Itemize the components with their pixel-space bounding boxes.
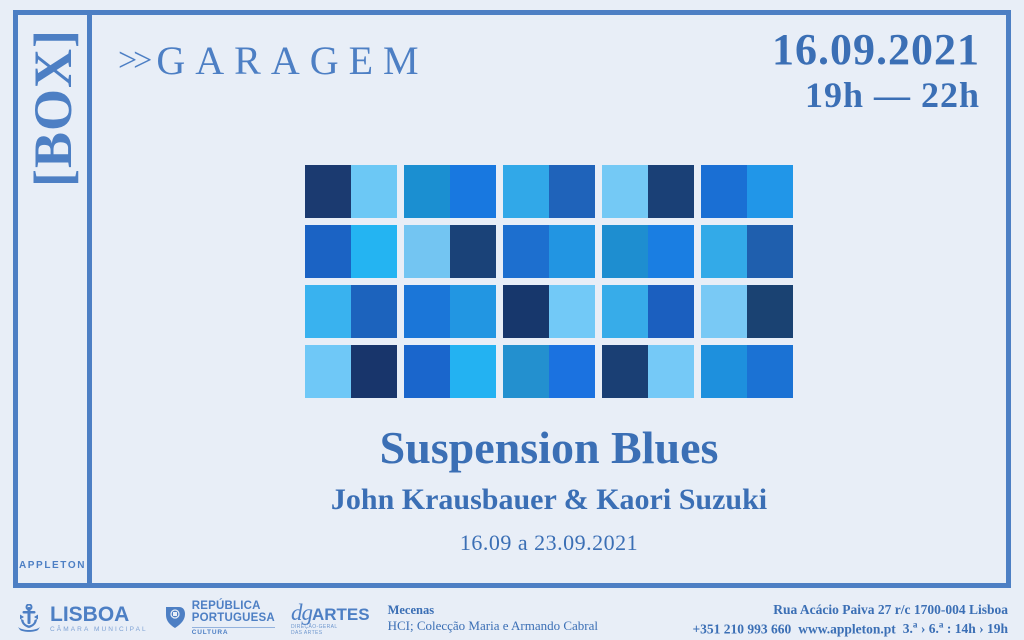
color-grid-cell (602, 165, 694, 218)
color-swatch-left (602, 285, 648, 338)
color-swatch-right (747, 225, 793, 278)
color-swatch-left (503, 225, 549, 278)
color-swatch-right (549, 225, 595, 278)
color-grid-row (305, 165, 793, 218)
contact-website[interactable]: www.appleton.pt (798, 621, 896, 636)
color-swatch-right (450, 225, 496, 278)
color-swatch-right (747, 345, 793, 398)
color-swatch-left (305, 165, 351, 218)
color-swatch-right (747, 285, 793, 338)
color-swatch-right (648, 165, 694, 218)
event-time: 19h — 22h (772, 75, 980, 116)
box-brand-column: [BOX] APPLETON (18, 15, 92, 583)
event-date: 16.09.2021 (772, 27, 980, 73)
color-swatch-right (351, 165, 397, 218)
color-swatch-right (450, 285, 496, 338)
color-grid-cell (305, 285, 397, 338)
color-swatch-left (503, 345, 549, 398)
dgartes-dg: dg (291, 600, 312, 625)
color-grid-cell (701, 165, 793, 218)
sponsor-logos: LISBOA CÂMARA MUNICIPAL REPÚBLICA PORTUG… (0, 596, 370, 637)
color-swatch-right (549, 345, 595, 398)
color-swatch-left (602, 165, 648, 218)
color-swatch-left (404, 225, 450, 278)
color-grid-cell (602, 285, 694, 338)
color-swatch-right (648, 225, 694, 278)
color-swatch-left (404, 345, 450, 398)
dgartes-wordmark: dgARTES (291, 601, 370, 624)
color-swatch-right (648, 285, 694, 338)
color-grid-cell (305, 165, 397, 218)
logo-lisboa: LISBOA CÂMARA MUNICIPAL (14, 604, 148, 634)
exhibition-run-dates: 16.09 a 23.09.2021 (92, 530, 1006, 556)
lisboa-logo-subtitle: CÂMARA MUNICIPAL (50, 627, 148, 634)
color-swatch-right (549, 285, 595, 338)
event-datetime-block: 16.09.2021 19h — 22h (772, 27, 980, 117)
color-swatch-left (305, 285, 351, 338)
color-swatch-right (351, 345, 397, 398)
republica-portuguesa-shield-icon (164, 605, 186, 633)
double-chevron-icon: >> (118, 42, 148, 79)
color-swatch-left (305, 345, 351, 398)
color-grid-cell (701, 225, 793, 278)
rp-logo-divider (192, 627, 275, 628)
color-grid-cell (404, 225, 496, 278)
logo-republica-portuguesa: REPÚBLICA PORTUGUESA CULTURA (164, 601, 275, 636)
garagem-section-title: >>GARAGEM (118, 37, 429, 84)
color-grid-cell (701, 285, 793, 338)
color-swatch-left (503, 285, 549, 338)
color-swatch-left (701, 165, 747, 218)
color-grid-cell (305, 225, 397, 278)
artists-names: John Krausbauer & Kaori Suzuki (92, 483, 1006, 518)
color-swatch-left (305, 225, 351, 278)
box-brand-mark: [BOX] (26, 29, 80, 187)
color-grid-row (305, 345, 793, 398)
color-swatch-right (648, 345, 694, 398)
color-swatch-right (450, 345, 496, 398)
logo-dgartes: dgARTES DIREÇÃO-GERAL DAS ARTES (291, 601, 370, 637)
contact-details: +351 210 993 660www.appleton.pt3.a › 6.a… (692, 619, 1008, 638)
color-swatch-right (549, 165, 595, 218)
exhibition-title: Suspension Blues (92, 423, 1006, 474)
lisboa-logo-name: LISBOA (50, 604, 148, 625)
poster-footer: LISBOA CÂMARA MUNICIPAL REPÚBLICA PORTUG… (0, 596, 1024, 640)
color-grid-cell (404, 345, 496, 398)
mecenas-block: Mecenas HCI; Colecção Maria e Armando Ca… (370, 596, 598, 635)
color-grid-cell (503, 225, 595, 278)
color-grid-cell (404, 285, 496, 338)
color-grid-cell (602, 225, 694, 278)
color-swatch-right (747, 165, 793, 218)
mecenas-value: HCI; Colecção Maria e Armando Cabral (388, 618, 598, 635)
color-grid-cell (305, 345, 397, 398)
color-grid-artwork (305, 165, 793, 398)
contact-phone: +351 210 993 660 (692, 621, 791, 636)
dgartes-artes: ARTES (312, 605, 370, 624)
color-swatch-right (351, 225, 397, 278)
rp-logo-subtitle: CULTURA (192, 630, 275, 637)
contact-block: Rua Acácio Paiva 27 r/c 1700-004 Lisboa … (692, 596, 1024, 638)
poster-frame: [BOX] APPLETON >>GARAGEM 16.09.2021 19h … (13, 10, 1011, 588)
color-swatch-left (404, 285, 450, 338)
color-grid-cell (701, 345, 793, 398)
title-block: Suspension Blues John Krausbauer & Kaori… (92, 423, 1006, 556)
color-grid-cell (503, 285, 595, 338)
color-swatch-left (602, 345, 648, 398)
dgartes-subtitle-line2: DAS ARTES (291, 630, 370, 636)
color-swatch-right (450, 165, 496, 218)
color-grid-cell (602, 345, 694, 398)
mecenas-label: Mecenas (388, 602, 598, 618)
garagem-label: GARAGEM (156, 38, 428, 83)
color-swatch-left (404, 165, 450, 218)
color-grid-cell (404, 165, 496, 218)
color-grid-cell (503, 165, 595, 218)
color-grid-row (305, 285, 793, 338)
lisboa-caravel-anchor-icon (14, 604, 44, 634)
contact-address: Rua Acácio Paiva 27 r/c 1700-004 Lisboa (692, 601, 1008, 619)
event-poster: [BOX] APPLETON >>GARAGEM 16.09.2021 19h … (0, 0, 1024, 640)
poster-content: >>GARAGEM 16.09.2021 19h — 22h Suspensio… (92, 15, 1006, 583)
color-grid-cell (503, 345, 595, 398)
color-swatch-left (602, 225, 648, 278)
color-swatch-left (503, 165, 549, 218)
color-swatch-right (351, 285, 397, 338)
color-swatch-left (701, 285, 747, 338)
color-grid-row (305, 225, 793, 278)
rp-logo-line2: PORTUGUESA (192, 613, 275, 625)
appleton-venue-mark: APPLETON (19, 560, 86, 571)
color-swatch-left (701, 345, 747, 398)
color-swatch-left (701, 225, 747, 278)
contact-opening-hours: 3.a › 6.a : 14h › 19h (903, 621, 1008, 636)
